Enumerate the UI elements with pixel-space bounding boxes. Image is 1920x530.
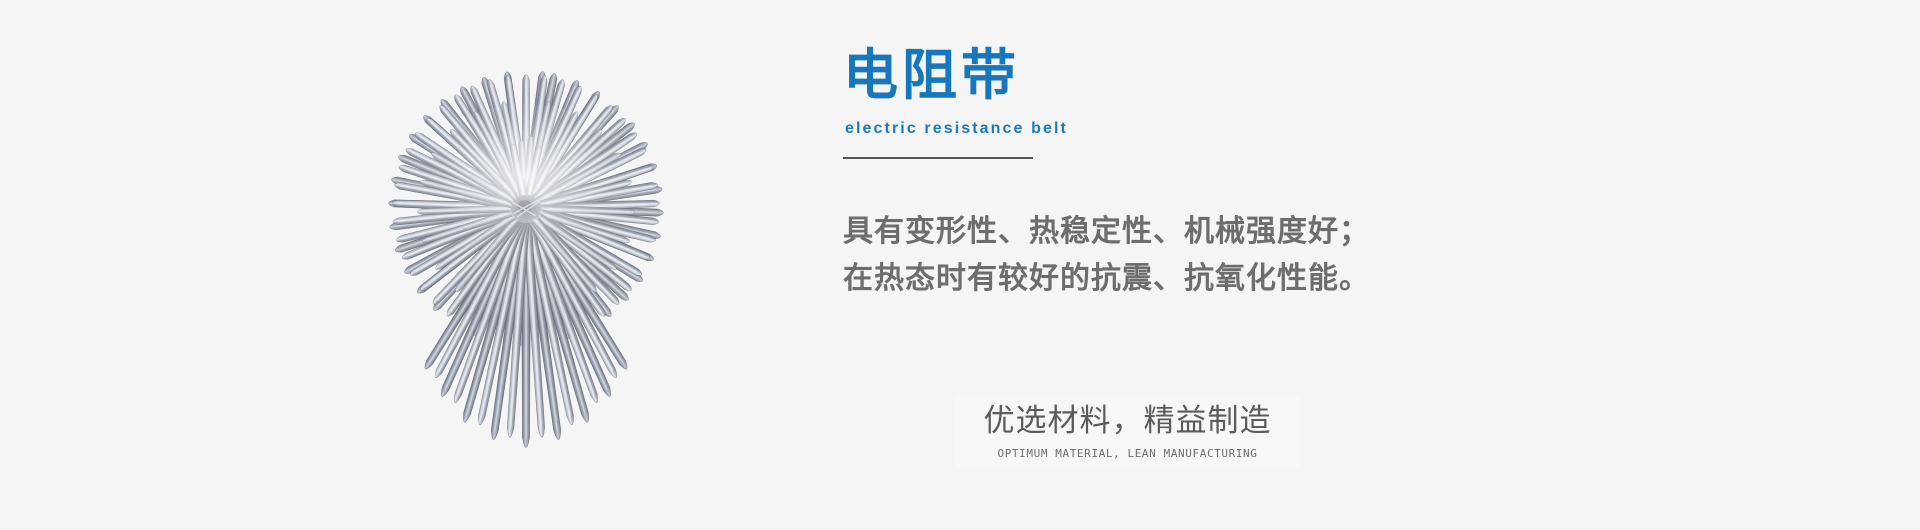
- page-subtitle: electric resistance belt: [845, 118, 1743, 140]
- page-title: 电阻带: [843, 44, 1743, 106]
- title-divider: [843, 157, 1033, 159]
- slogan-chinese: 优选材料，精益制造: [955, 395, 1300, 444]
- product-description: 具有变形性、热稳定性、机械强度好； 在热态时有较好的抗震、抗氧化性能。: [843, 208, 1743, 302]
- banner-text-block: 电阻带 electric resistance belt 具有变形性、热稳定性、…: [843, 44, 1743, 302]
- description-line-2: 在热态时有较好的抗震、抗氧化性能。: [843, 255, 1743, 302]
- slogan-watermark: 优选材料，精益制造 OPTIMUM MATERIAL, LEAN MANUFAC…: [955, 395, 1300, 468]
- product-image: [330, 56, 720, 446]
- slogan-english: OPTIMUM MATERIAL, LEAN MANUFACTURING: [955, 446, 1300, 461]
- description-line-1: 具有变形性、热稳定性、机械强度好；: [843, 208, 1743, 255]
- product-banner: 电阻带 electric resistance belt 具有变形性、热稳定性、…: [0, 0, 1920, 530]
